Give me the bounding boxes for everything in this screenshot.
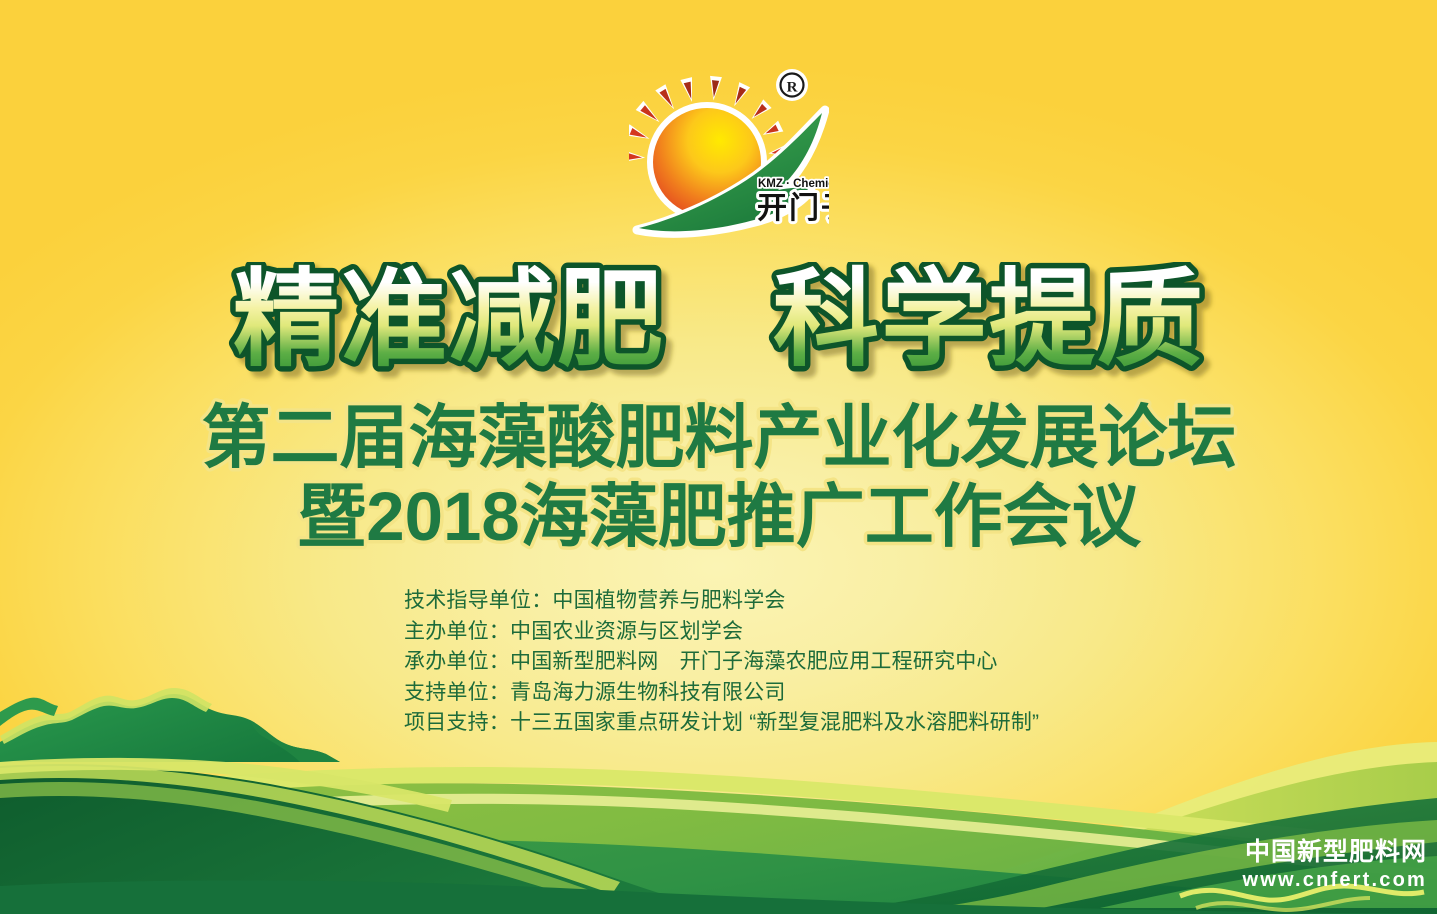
- svg-text:R: R: [787, 80, 798, 96]
- organizer-line-organizer: 承办单位：中国新型肥料网 开门子海藻农肥应用工程研究中心: [404, 647, 1204, 678]
- subtitle-line-2-graphic: 暨2018海藻肥推广工作会议 暨2018海藻肥推广工作会议: [259, 477, 1179, 559]
- headline-text: 精准减肥 科学提质: [233, 262, 1205, 379]
- registered-trademark-icon: R: [776, 69, 808, 101]
- organizer-line-project-support: 项目支持：十三五国家重点研发计划 “新型复混肥料及水溶肥料研制”: [404, 708, 1204, 739]
- brand-cn: 开门子: [757, 192, 829, 225]
- organizer-line-host: 主办单位：中国农业资源与区划学会: [404, 617, 1204, 648]
- headline-graphic: 精准减肥 科学提质 精准减肥 科学提质: [189, 262, 1249, 382]
- logo-graphic: R KMZ · Chemical KMZ · Chemical 开门子 开门子: [629, 62, 829, 247]
- subtitle-line-1-block: 第二届海藻酸肥料产业化发展论坛 第二届海藻酸肥料产业化发展论坛: [0, 398, 1437, 480]
- subtitle-line-2-block: 暨2018海藻肥推广工作会议 暨2018海藻肥推广工作会议: [0, 477, 1437, 559]
- subtitle-line-1-graphic: 第二届海藻酸肥料产业化发展论坛 第二届海藻酸肥料产业化发展论坛: [189, 398, 1249, 480]
- subtitle-line-2-text: 暨2018海藻肥推广工作会议: [297, 478, 1141, 555]
- subtitle-line-1-text: 第二届海藻酸肥料产业化发展论坛: [201, 399, 1236, 476]
- organizer-list: 技术指导单位：中国植物营养与肥料学会 主办单位：中国农业资源与区划学会 承办单位…: [404, 586, 1204, 739]
- brand-en: KMZ · Chemical: [758, 178, 829, 190]
- site-watermark[interactable]: 中国新型肥料网 www.cnfert.com: [1242, 840, 1427, 890]
- conference-banner: R KMZ · Chemical KMZ · Chemical 开门子 开门子: [0, 0, 1437, 914]
- brand-text: KMZ · Chemical KMZ · Chemical 开门子 开门子: [757, 178, 829, 225]
- company-logo: R KMZ · Chemical KMZ · Chemical 开门子 开门子: [629, 62, 829, 247]
- watermark-url: www.cnfert.com: [1242, 870, 1427, 890]
- watermark-site-name: 中国新型肥料网: [1242, 840, 1427, 865]
- organizer-line-technical-guidance: 技术指导单位：中国植物营养与肥料学会: [404, 586, 1204, 617]
- organizer-line-supporter: 支持单位：青岛海力源生物科技有限公司: [404, 678, 1204, 709]
- headline-block: 精准减肥 科学提质 精准减肥 科学提质: [0, 262, 1437, 382]
